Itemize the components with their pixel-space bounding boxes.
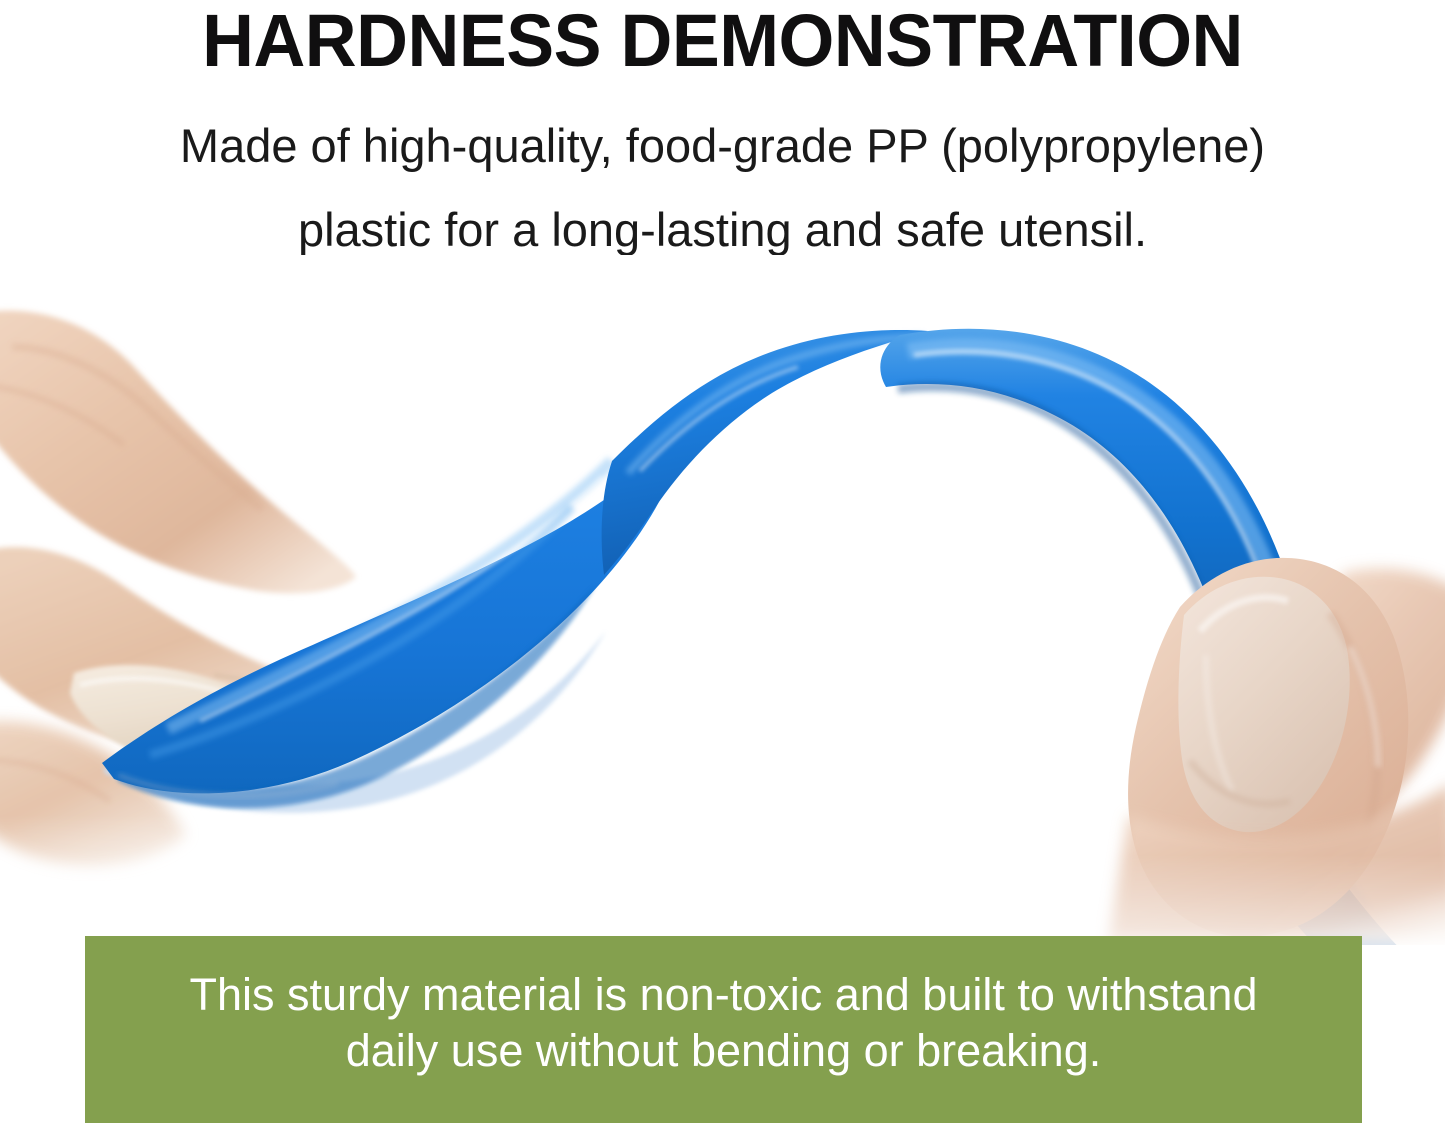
page-title: HARDNESS DEMONSTRATION	[22, 2, 1424, 80]
spoon-bend-illustration	[0, 255, 1445, 945]
product-feature-image: HARDNESS DEMONSTRATION Made of high-qual…	[0, 0, 1445, 1123]
caption-banner: This sturdy material is non-toxic and bu…	[85, 936, 1362, 1123]
product-photo	[0, 255, 1445, 945]
caption-line-1: This sturdy material is non-toxic and bu…	[85, 967, 1362, 1023]
caption-line-2: daily use without bending or breaking.	[85, 1023, 1362, 1079]
subtitle-line-1: Made of high-quality, food-grade PP (pol…	[60, 104, 1385, 188]
caption-text: This sturdy material is non-toxic and bu…	[85, 967, 1362, 1093]
subtitle: Made of high-quality, food-grade PP (pol…	[60, 104, 1385, 272]
